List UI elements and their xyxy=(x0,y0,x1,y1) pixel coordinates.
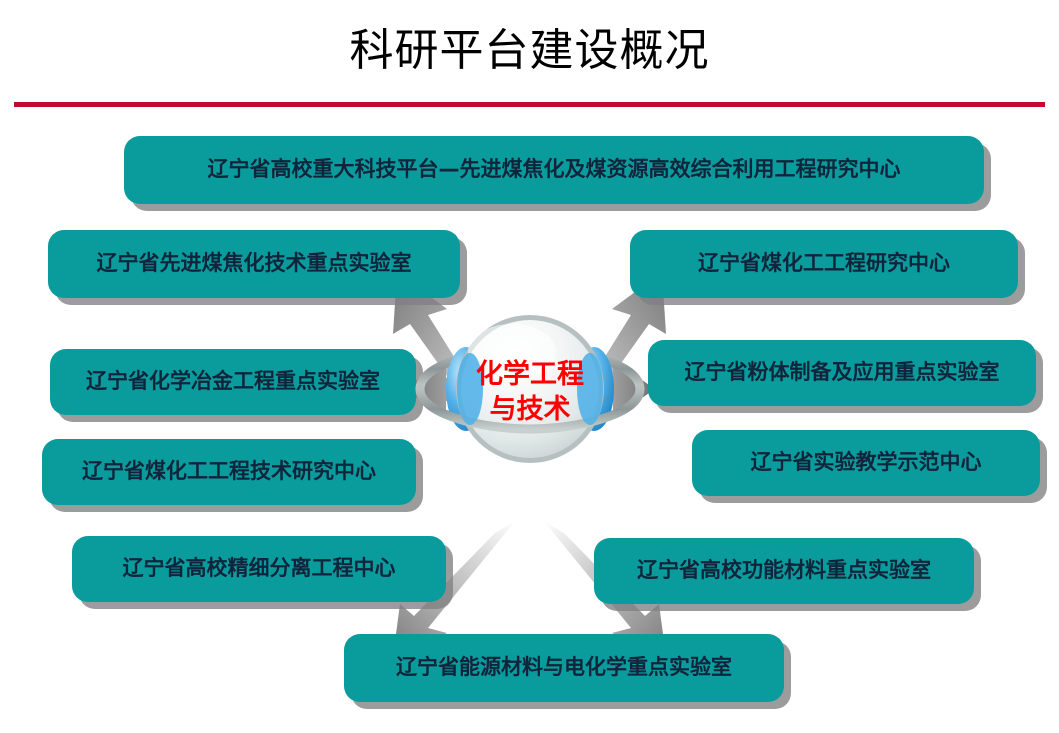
hub-line-2: 与技术 xyxy=(490,394,571,425)
center-hub[interactable]: 化学工程 与技术 xyxy=(0,112,1059,733)
title-divider xyxy=(14,102,1045,107)
slide-canvas: 科研平台建设概况 xyxy=(0,0,1059,733)
platform-diagram: 辽宁省高校重大科技平台—先进煤焦化及煤资源高效综合利用工程研究中心 辽宁省先进煤… xyxy=(0,112,1059,733)
hub-line-1: 化学工程 xyxy=(476,358,584,390)
page-title: 科研平台建设概况 xyxy=(0,22,1059,80)
